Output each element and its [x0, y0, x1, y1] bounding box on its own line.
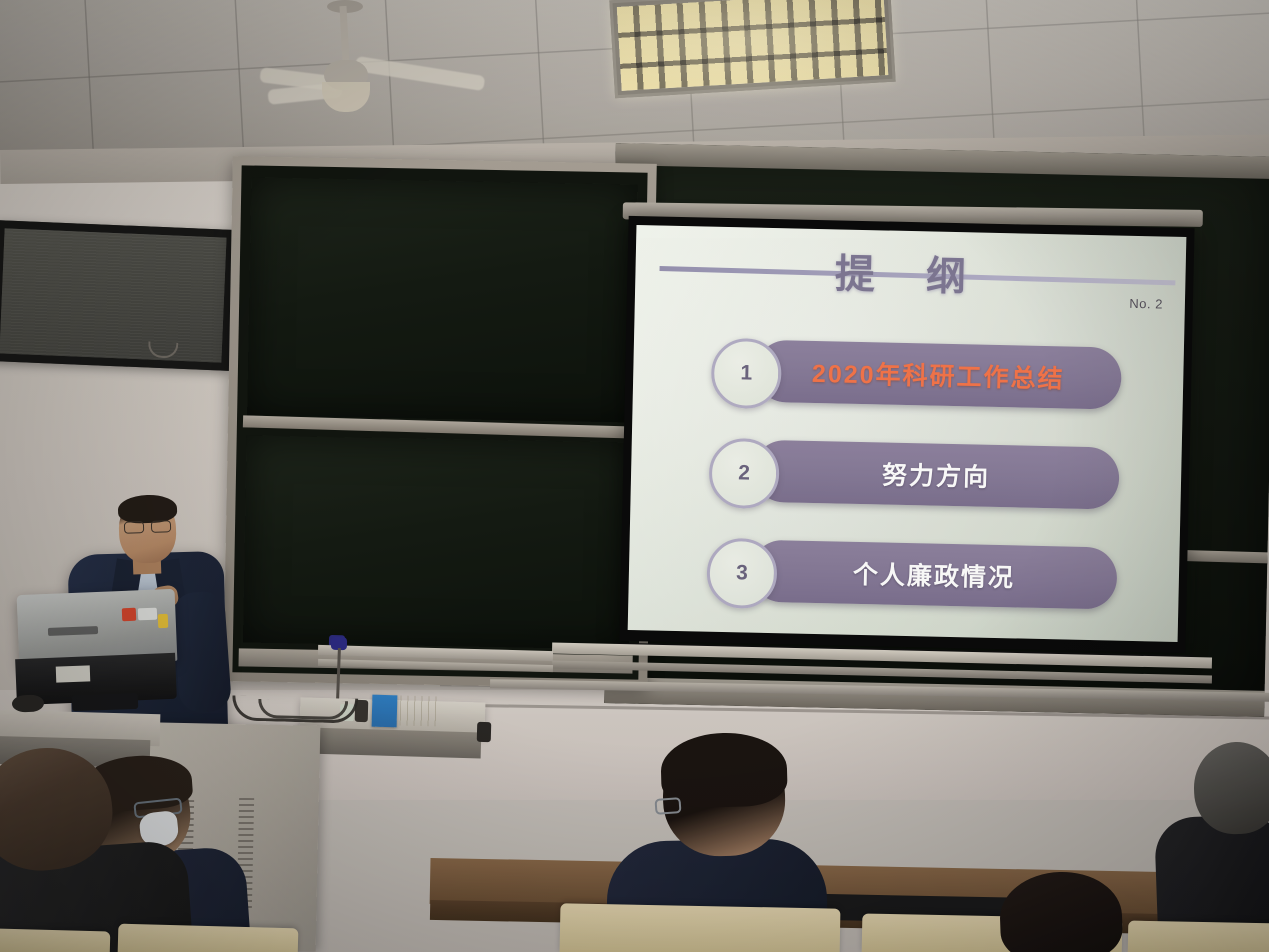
keyboard-drawer [306, 728, 482, 759]
chalkboard-inner [232, 165, 647, 679]
wall-display-panel [0, 220, 235, 371]
agenda-item: 个人廉政情况 3 [628, 537, 1180, 635]
agenda-item: 努力方向 2 [630, 437, 1182, 535]
chalkboard-left [223, 156, 657, 689]
presenter-glasses [124, 520, 171, 532]
agenda-item-label: 个人廉政情况 [853, 555, 1016, 595]
monitor-sticker-white [138, 608, 157, 621]
projection-screen: 提 纲 No. 2 2020年科研工作总结 1 努力方向 2 [619, 216, 1194, 653]
monitor-sticker-yellow [158, 614, 169, 628]
wall-display-screen [0, 228, 227, 362]
audience-desk-front [560, 903, 841, 952]
power-cable [258, 699, 348, 720]
slide-page-number: No. 2 [1129, 296, 1163, 312]
audience-desk-front [0, 928, 110, 952]
agenda-pill: 努力方向 [752, 440, 1119, 510]
agenda-pill: 2020年科研工作总结 [755, 340, 1122, 410]
monitor-spec-sticker [56, 665, 91, 682]
slide-surface: 提 纲 No. 2 2020年科研工作总结 1 努力方向 2 [628, 225, 1187, 642]
stacked-papers-item [400, 695, 441, 726]
blue-box-item [372, 695, 398, 728]
agenda-item: 2020年科研工作总结 1 [632, 337, 1184, 435]
agenda-item-label: 2020年科研工作总结 [812, 354, 1065, 396]
audience-desk-front [1128, 921, 1269, 952]
monitor-sticker-red [122, 608, 137, 622]
agenda-item-label: 努力方向 [882, 455, 991, 493]
agenda-pill: 个人廉政情况 [750, 540, 1117, 610]
light-glow [600, 0, 900, 100]
monitor-stand [72, 693, 139, 711]
audience-desk-front [118, 924, 299, 952]
slide-agenda-list: 2020年科研工作总结 1 努力方向 2 个人廉政情况 3 [628, 337, 1184, 642]
wall-outlet [477, 722, 492, 742]
slide-title: 提 纲 [635, 237, 1186, 307]
chalkboard-panel-lower [243, 435, 633, 649]
audience-person-glasses [654, 797, 681, 815]
chalkboard-panel-upper [247, 178, 637, 423]
presenter-arm [172, 590, 232, 713]
lecture-hall-photo: 提 纲 No. 2 2020年科研工作总结 1 努力方向 2 [0, 0, 1269, 952]
